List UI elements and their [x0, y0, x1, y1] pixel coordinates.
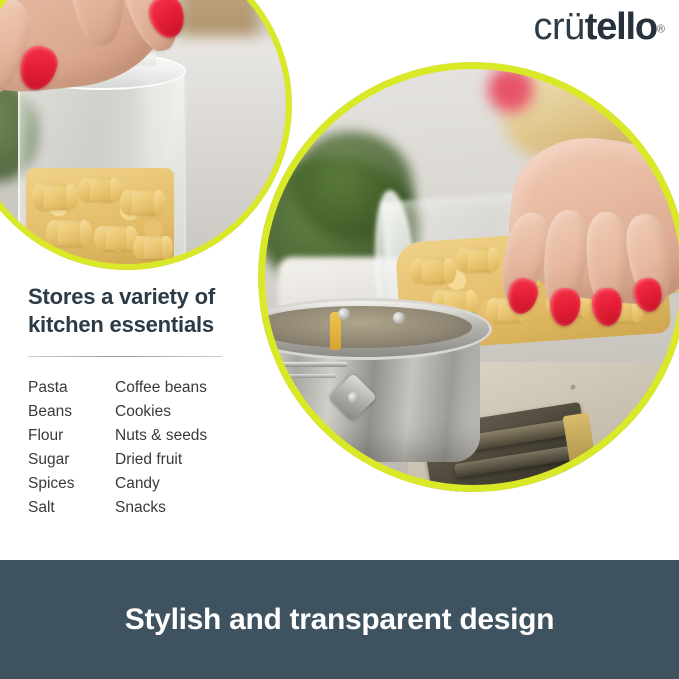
logo-text-bold: tello	[585, 6, 657, 48]
list-item: Candy	[115, 472, 275, 496]
list-item: Salt	[28, 496, 115, 520]
logo-text-light: crü	[533, 6, 584, 48]
list-item: Beans	[28, 400, 115, 424]
registered-trademark-icon: ®	[657, 24, 665, 36]
list-item: Nuts & seeds	[115, 424, 275, 448]
divider	[28, 356, 222, 357]
storable-items-list: Pasta Beans Flour Sugar Spices Salt Coff…	[28, 376, 280, 520]
list-item: Snacks	[115, 496, 275, 520]
list-item: Sugar	[28, 448, 115, 472]
bottom-banner: Stylish and transparent design	[0, 560, 679, 679]
page-title: Stores a variety of kitchen essentials	[28, 283, 280, 339]
list-item: Dried fruit	[115, 448, 275, 472]
banner-headline: Stylish and transparent design	[125, 603, 554, 637]
brand-logo: crütello®	[533, 8, 665, 46]
product-infographic: crütello®	[0, 0, 679, 679]
headline-line-2: kitchen essentials	[28, 312, 214, 337]
list-item: Cookies	[115, 400, 275, 424]
photo-closing-jar-lid	[0, 0, 292, 270]
list-item: Flour	[28, 424, 115, 448]
list-item: Pasta	[28, 376, 115, 400]
scene-kitchen-stove	[258, 62, 679, 492]
list-item: Spices	[28, 472, 115, 496]
photo-pouring-pasta-into-pot	[258, 62, 679, 492]
items-column-left: Pasta Beans Flour Sugar Spices Salt	[28, 376, 115, 520]
scene-jar-and-hand	[0, 0, 292, 270]
list-item: Coffee beans	[115, 376, 275, 400]
headline-line-1: Stores a variety of	[28, 284, 215, 309]
items-column-right: Coffee beans Cookies Nuts & seeds Dried …	[115, 376, 275, 520]
features-text-block: Stores a variety of kitchen essentials P…	[28, 283, 280, 520]
